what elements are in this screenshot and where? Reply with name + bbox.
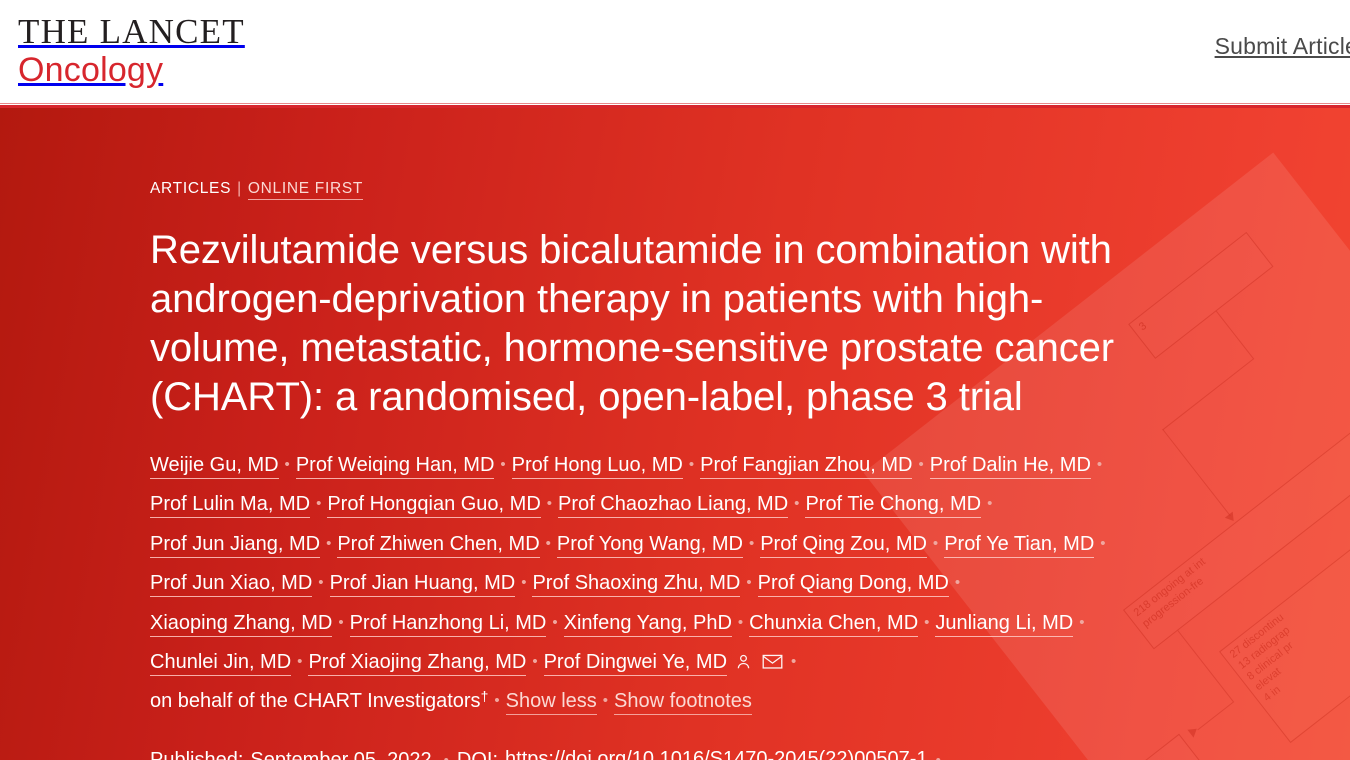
author-link[interactable]: Prof Yong Wang, MD (557, 533, 743, 558)
author-link[interactable]: Prof Dalin He, MD (930, 454, 1091, 479)
author-separator-dot: • (297, 647, 302, 677)
author-link[interactable]: Prof Hanzhong Li, MD (350, 612, 547, 637)
watermark-box-3-line-2: 13 radiograp (1236, 624, 1292, 671)
author-link[interactable]: Junliang Li, MD (935, 612, 1073, 637)
author-link[interactable]: Prof Zhiwen Chen, MD (337, 533, 539, 558)
watermark-box-3-line-4: elevat (1253, 666, 1284, 694)
doi-label: DOI: (457, 749, 498, 760)
author-separator-dot: • (749, 529, 754, 559)
lancet-oncology-logo[interactable]: THE LANCET Oncology (18, 14, 245, 89)
author-separator-dot: • (546, 529, 551, 559)
article-kicker: ARTICLES|ONLINE FIRST (150, 180, 1130, 198)
author-separator-dot: • (494, 686, 499, 716)
author-link[interactable]: Prof Jian Huang, MD (330, 572, 516, 597)
watermark-box-3: 27 discontinu 13 radiograp 8 clinical pr… (1219, 467, 1350, 743)
author-separator-dot: • (500, 450, 505, 480)
show-less-button[interactable]: Show less (506, 690, 597, 715)
group-author-label: on behalf of the CHART Investigators (150, 690, 481, 712)
author-link[interactable]: Prof Fangjian Zhou, MD (700, 454, 912, 479)
watermark-arrow-1 (1225, 512, 1238, 524)
watermark-box-3-line-3: 8 clinical pr (1245, 639, 1296, 682)
author-separator-dot: • (285, 450, 290, 480)
watermark-connector-3 (1216, 311, 1254, 359)
show-footnotes-button[interactable]: Show footnotes (614, 690, 752, 715)
author-link[interactable]: Prof Chaozhao Liang, MD (558, 493, 788, 518)
author-link[interactable]: Prof Jun Jiang, MD (150, 533, 320, 558)
watermark-connector-4 (1177, 630, 1233, 702)
author-list: Weijie Gu, MD•Prof Weiqing Han, MD•Prof … (150, 446, 1130, 722)
author-link[interactable]: Prof Hongqian Guo, MD (327, 493, 540, 518)
author-link[interactable]: Prof Ye Tian, MD (944, 533, 1094, 558)
author-link[interactable]: Chunxia Chen, MD (749, 612, 918, 637)
author-link[interactable]: Prof Qing Zou, MD (760, 533, 927, 558)
author-link[interactable]: Prof Jun Xiao, MD (150, 572, 312, 597)
logo-the-lancet: THE LANCET (18, 14, 245, 51)
article-title: Rezvilutamide versus bicalutamide in com… (150, 226, 1130, 422)
watermark-box-3-line-1: 27 discontinu (1228, 611, 1286, 660)
author-separator-dot: • (521, 568, 526, 598)
author-link[interactable]: Prof Qiang Dong, MD (758, 572, 949, 597)
author-separator-dot: • (955, 568, 960, 598)
author-separator-dot: • (1097, 450, 1102, 480)
group-author-dagger: † (481, 688, 489, 704)
published-date: September 05, 2022 (250, 749, 431, 760)
kicker-section-label: ARTICLES (150, 180, 231, 197)
published-label: Published: (150, 749, 243, 760)
author-separator-dot: • (318, 568, 323, 598)
meta-separator-dot: • (936, 752, 941, 760)
author-profile-icon[interactable] (734, 652, 753, 671)
author-separator-dot: • (746, 568, 751, 598)
watermark-box-2-line-1: 218 ongoing at int (1132, 556, 1208, 619)
submit-article-link[interactable]: Submit Article (1215, 33, 1350, 60)
author-separator-dot: • (1100, 529, 1105, 559)
author-link[interactable]: Xinfeng Yang, PhD (564, 612, 732, 637)
author-link[interactable]: Prof Tie Chong, MD (805, 493, 981, 518)
author-separator-dot: • (689, 450, 694, 480)
author-link[interactable]: Prof Lulin Ma, MD (150, 493, 310, 518)
doi-link[interactable]: https://doi.org/10.1016/S1470-2045(22)00… (505, 748, 928, 760)
article-meta: Published: September 05, 2022 • DOI: htt… (150, 748, 1130, 760)
author-separator-dot: • (791, 647, 796, 677)
author-separator-dot: • (1079, 608, 1084, 638)
kicker-separator: | (237, 180, 242, 197)
watermark-box-2-line-2: progression-fre (1140, 575, 1206, 630)
author-link[interactable]: Xiaoping Zhang, MD (150, 612, 332, 637)
author-link[interactable]: Weijie Gu, MD (150, 454, 279, 479)
author-link[interactable]: Prof Weiqing Han, MD (296, 454, 495, 479)
author-separator-dot: • (552, 608, 557, 638)
author-separator-dot: • (338, 608, 343, 638)
author-separator-dot: • (933, 529, 938, 559)
article-hero-page: THE LANCET Oncology Submit Article 3 218… (0, 0, 1350, 760)
watermark-arrow-2 (1187, 725, 1199, 738)
site-header: THE LANCET Oncology Submit Article (0, 0, 1350, 108)
author-separator-dot: • (987, 489, 992, 519)
watermark-box-4 (1110, 734, 1253, 760)
article-hero-banner: 3 218 ongoing at int progression-fre 27 … (0, 108, 1350, 760)
author-separator-dot: • (547, 489, 552, 519)
watermark-connector-1 (1162, 429, 1231, 516)
author-separator-dot: • (326, 529, 331, 559)
author-separator-dot: • (532, 647, 537, 677)
watermark-box-2: 218 ongoing at int progression-fre (1123, 425, 1350, 649)
header-divider-thin (0, 103, 1350, 104)
author-link[interactable]: Chunlei Jin, MD (150, 651, 291, 676)
watermark-box-3-line-5: 4 in (1262, 684, 1283, 704)
kicker-online-first-link[interactable]: ONLINE FIRST (248, 180, 363, 200)
author-link[interactable]: Prof Xiaojing Zhang, MD (308, 651, 526, 676)
author-separator-dot: • (316, 489, 321, 519)
logo-oncology: Oncology (18, 51, 245, 89)
meta-separator-dot: • (444, 752, 449, 760)
watermark-connector-2 (1162, 358, 1254, 430)
author-link[interactable]: Prof Hong Luo, MD (512, 454, 683, 479)
author-link[interactable]: Prof Shaoxing Zhu, MD (532, 572, 740, 597)
author-separator-dot: • (918, 450, 923, 480)
email-icon[interactable] (762, 652, 783, 671)
author-separator-dot: • (924, 608, 929, 638)
watermark-connector-5 (1197, 701, 1234, 730)
watermark-box-1: 3 (1128, 232, 1273, 359)
author-separator-dot: • (738, 608, 743, 638)
author-link[interactable]: Prof Dingwei Ye, MD (544, 651, 727, 676)
author-separator-dot: • (603, 686, 608, 716)
author-separator-dot: • (794, 489, 799, 519)
